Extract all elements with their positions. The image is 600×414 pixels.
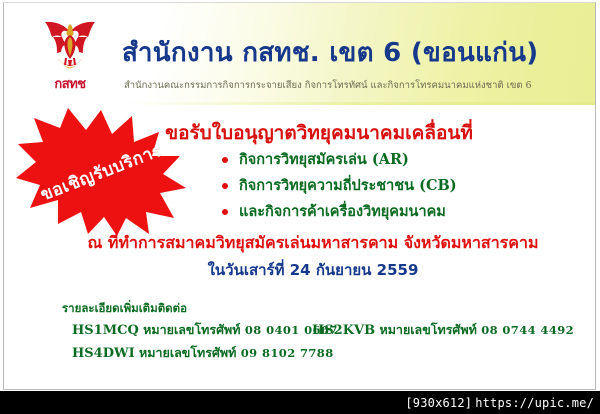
contact-phone-number: 08 0744 4492: [481, 323, 574, 337]
contact-phone-label: หมายเลขโทรศัพท์: [379, 322, 476, 337]
contact-phone-label: หมายเลขโทรศัพท์: [139, 345, 236, 360]
venue-text: ณ ที่ทำการสมาคมวิทยุสมัครเล่นมหาสารคาม จ…: [0, 231, 600, 256]
service-list: กิจการวิทยุสมัครเล่น (AR) กิจการวิทยุควา…: [222, 150, 457, 228]
headline-text: ขอรับใบอนุญาตวิทยุคมนาคมเคลื่อนที่: [0, 118, 600, 148]
poster-image: กสทช สำนักงาน กสทช. เขต 6 (ขอนแก่น) สำนั…: [0, 0, 600, 414]
list-item-thai: กิจการวิทยุความถี่ประชาชน: [239, 178, 419, 194]
event-date-text: ในวันเสาร์ที่ 24 กันยายน 2559: [0, 258, 600, 282]
contact-entry: HS1MCQ หมายเลขโทรศัพท์ 08 0401 0667: [72, 320, 338, 340]
list-item-thai: และกิจการค้าเครื่องวิทยุคมนาคม: [239, 204, 446, 220]
image-host-footer: [930x612] https://upic.me/: [0, 391, 600, 414]
page-subtitle: สำนักงานคณะกรรมการกิจการกระจายเสียง กิจก…: [124, 78, 532, 93]
list-item: กิจการวิทยุความถี่ประชาชน (CB): [222, 176, 457, 196]
list-item: กิจการวิทยุสมัครเล่น (AR): [222, 150, 457, 170]
logo-wordmark: กสทช: [34, 78, 106, 92]
contact-heading: รายละเอียดเพิ่มเติมติดต่อ: [62, 300, 187, 318]
garuda-emblem-icon: [34, 16, 106, 80]
contact-callsign: HS2KVB: [312, 323, 375, 338]
list-item-thai: กิจการวิทยุสมัครเล่น: [239, 152, 372, 168]
contact-entry: HS4DWI หมายเลขโทรศัพท์ 09 8102 7788: [72, 343, 334, 363]
organization-logo: กสทช: [34, 16, 106, 98]
image-host-link[interactable]: https://upic.me/: [475, 396, 594, 410]
contact-phone-label: หมายเลขโทรศัพท์: [143, 322, 240, 337]
list-item-code: (AR): [372, 151, 409, 168]
list-item-code: (CB): [419, 177, 457, 194]
contact-callsign: HS1MCQ: [72, 323, 139, 338]
contact-phone-number: 09 8102 7788: [241, 346, 334, 360]
contact-entry: HS2KVB หมายเลขโทรศัพท์ 08 0744 4492: [312, 320, 574, 340]
list-item: และกิจการค้าเครื่องวิทยุคมนาคม: [222, 202, 457, 222]
contact-callsign: HS4DWI: [72, 346, 135, 361]
image-dimensions-label: [930x612]: [405, 396, 472, 410]
page-title: สำนักงาน กสทช. เขต 6 (ขอนแก่น): [122, 32, 538, 73]
